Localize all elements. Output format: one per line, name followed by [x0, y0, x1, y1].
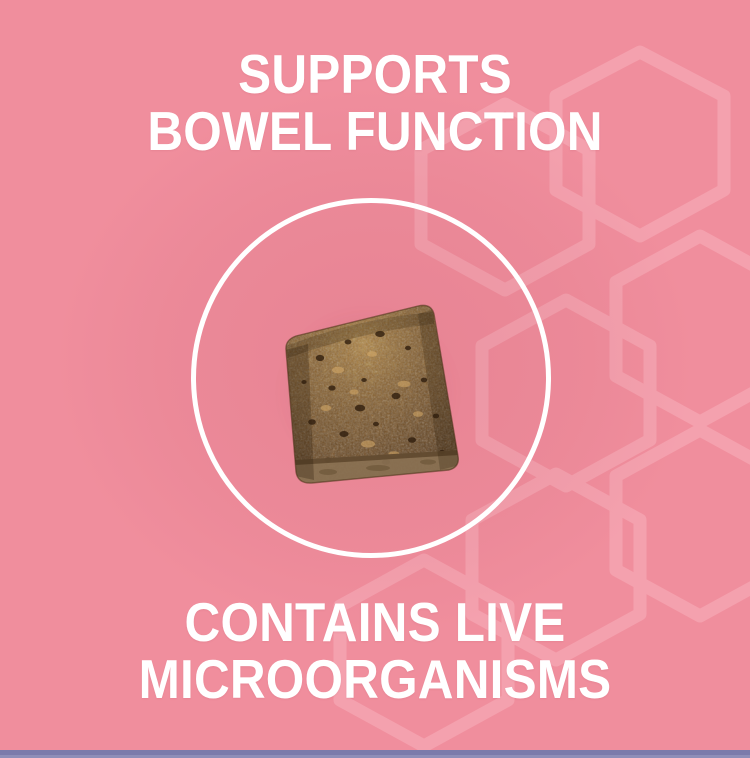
- headline-top-line-1: SUPPORTS: [38, 46, 713, 103]
- kibble-illustration: [268, 284, 468, 489]
- headline-bottom-line-2: MICROORGANISMS: [38, 651, 713, 708]
- headline-bottom-line-1: CONTAINS LIVE: [38, 594, 713, 651]
- headline-top: SUPPORTS BOWEL FUNCTION: [0, 46, 750, 161]
- headline-top-line-2: BOWEL FUNCTION: [38, 103, 713, 160]
- bottom-divider: [0, 750, 750, 758]
- kibble-image: [268, 284, 468, 489]
- headline-bottom: CONTAINS LIVE MICROORGANISMS: [0, 594, 750, 709]
- product-benefit-panel: SUPPORTS BOWEL FUNCTION: [0, 0, 750, 758]
